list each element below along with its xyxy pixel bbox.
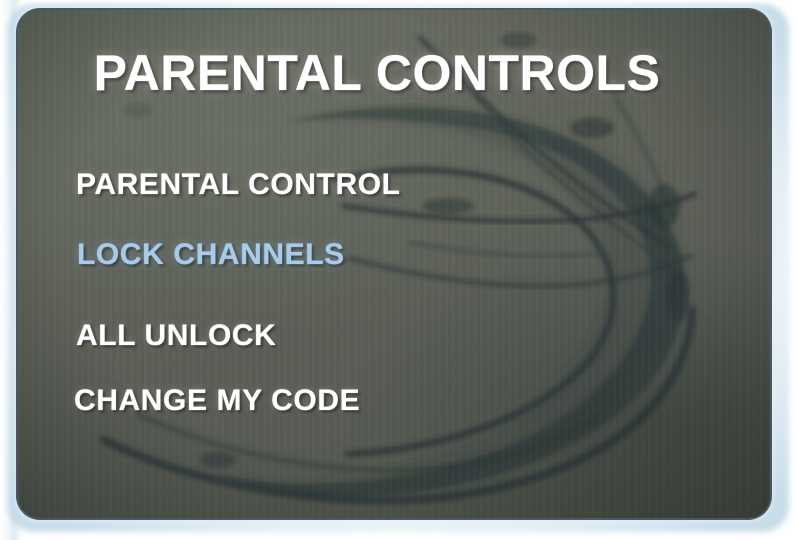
page-title: PARENTAL CONTROLS: [18, 48, 770, 98]
tv-screen-panel: PARENTAL CONTROLS PARENTAL CONTROL LOCK …: [18, 10, 770, 518]
menu-item-parental-control[interactable]: PARENTAL CONTROL: [76, 170, 401, 200]
osd-overlay: PARENTAL CONTROLS PARENTAL CONTROL LOCK …: [18, 10, 770, 518]
menu-item-lock-channels[interactable]: LOCK CHANNELS: [77, 240, 345, 270]
tv-osd-screenshot: PARENTAL CONTROLS PARENTAL CONTROL LOCK …: [0, 0, 797, 540]
menu-item-change-my-code[interactable]: CHANGE MY CODE: [74, 386, 360, 416]
menu-item-all-unlock[interactable]: ALL UNLOCK: [76, 321, 276, 351]
